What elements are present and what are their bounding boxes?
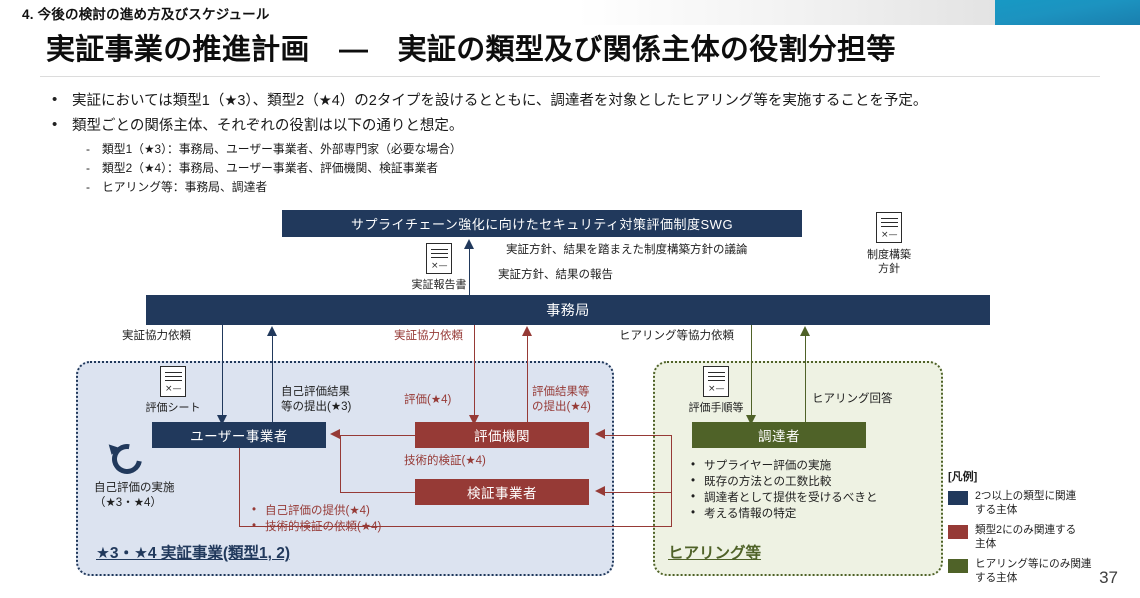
slide-root: 4. 今後の検討の進め方及びスケジュール 実証事業の推進計画 — 実証の類型及び… [0,0,1140,598]
legend-label: 2つ以上の類型に関連 する主体 [975,490,1076,517]
flow-label-self-eval-submit-2: 等の提出(★3) [281,400,351,415]
connector-jimukyoku-to-hyoka [474,325,475,422]
arrowhead-left-to-user [330,429,340,439]
node-procurer: 調達者 [692,422,866,448]
title-divider [40,76,1100,77]
procurer-task-list: サプライヤー評価の実施 既存の方法との工数比較 調達者として提供を受けるべきと … [690,458,940,522]
bullet-level2: 類型2（★4）：事務局、ユーザー事業者、評価機関、検証事業者 [44,159,1124,178]
connector-right-riser [671,435,672,526]
connector-kensho-riser [340,435,341,492]
flow-label-hyoka-result-1: 評価結果等 [532,385,590,400]
flow-label-swg-report: 実証方針、結果の報告 [498,268,613,283]
arrowhead-left-into-hyoka [595,429,605,439]
arrowhead-up-to-jimukyoku [267,326,277,336]
connector-kensho-to-user [340,492,415,493]
header-accent-block [995,0,1140,25]
bullet-level1: 類型ごとの関係主体、それぞれの役割は以下の通りと想定。 [44,115,1124,137]
connector-user-to-jimukyoku [272,335,273,422]
node-evaluation-body: 評価機関 [415,422,589,448]
arrowhead-up-to-swg [464,239,474,249]
legend-title: [凡例] [948,468,1128,484]
connector-user-down [239,448,240,526]
flow-label-hearing-kyoryoku: ヒアリング等協力依頼 [619,329,734,344]
section-kicker: 4. 今後の検討の進め方及びスケジュール [22,3,270,23]
flow-label-jissho-kyoryoku-mid: 実証協力依頼 [394,329,463,344]
panel-label-demonstration: ★3・★4 実証事業(類型1, 2) [96,541,290,563]
document-caption-seido-line2: 方針 [849,262,929,276]
legend-item: 類型2にのみ関連する 主体 [948,524,1128,551]
connector-chotatsu-to-jimukyoku [805,335,806,422]
legend-label: ヒアリング等にのみ関連 する主体 [975,558,1092,585]
flow-label-hearing-answer: ヒアリング回答 [812,392,893,407]
document-icon: ×— [426,243,452,274]
document-caption-hyoka-sheet: 評価シート [135,401,211,415]
node-swg: サプライチェーン強化に向けたセキュリティ対策評価制度SWG [282,210,802,237]
red-flow-list: 自己評価の提供(★4) 技術的検証の依頼(★4) [252,503,512,535]
connector-hyoka-to-jimukyoku [527,335,528,422]
arrowhead-up-to-jimukyoku-green [800,326,810,336]
flow-label-self-eval-do-2: （★3・★4） [94,496,162,511]
node-user-business: ユーザー事業者 [152,422,326,448]
flow-label-hyoka-result-2: の提出(★4) [532,400,591,415]
connector-hyoka-to-user [340,435,415,436]
node-jimukyoku: 事務局 [146,295,990,325]
role-sharing-diagram: サプライチェーン強化に向けたセキュリティ対策評価制度SWG 実証方針、結果を踏ま… [0,196,1140,598]
list-item: 既存の方法との工数比較 [690,474,940,490]
list-item: 技術的検証の依頼(★4) [252,519,512,535]
legend-label: 類型2にのみ関連する 主体 [975,524,1076,551]
bullet-level1: 実証においては類型1（★3）、類型2（★4）の2タイプを設けるとともに、調達者を… [44,90,1124,112]
bullet-level2: ヒアリング等：事務局、調達者 [44,178,1124,197]
list-item: サプライヤー評価の実施 [690,458,940,474]
panel-label-hearing: ヒアリング等 [668,541,761,563]
flow-label-hyoka-star4: 評価(★4) [404,393,451,408]
document-caption-hyoka-tejun: 評価手順等 [676,401,756,415]
legend-item: 2つ以上の類型に関連 する主体 [948,490,1128,517]
page-title: 実証事業の推進計画 — 実証の類型及び関係主体の役割分担等 [46,26,896,68]
legend-swatch-red [948,525,968,539]
flow-label-gijutsu-kensho: 技術的検証(★4) [404,454,486,469]
legend-swatch-navy [948,491,968,505]
document-icon: ×— [876,212,902,243]
bullet-block: 実証においては類型1（★3）、類型2（★4）の2タイプを設けるとともに、調達者を… [44,90,1124,197]
document-icon: ×— [160,366,186,397]
list-item: 調達者として提供を受けるべきと [690,490,940,506]
connector-jimukyoku-to-user [222,325,223,422]
flow-label-jissho-kyoryoku-left: 実証協力依頼 [122,329,191,344]
node-verification-body: 検証事業者 [415,479,589,505]
connector-to-kensho-right [605,492,671,493]
bullet-level2: 類型1（★3）：事務局、ユーザー事業者、外部専門家（必要な場合） [44,140,1124,159]
flow-label-self-eval-do-1: 自己評価の実施 [94,481,175,496]
connector-to-hyoka-right [605,435,671,436]
document-caption-seido-line1: 制度構築 [849,248,929,262]
arrowhead-left-into-kensho [595,486,605,496]
page-number: 37 [1099,568,1118,588]
document-icon: ×— [703,366,729,397]
list-item: 自己評価の提供(★4) [252,503,512,519]
arrowhead-up-to-jimukyoku-red [522,326,532,336]
document-caption-jissho-report: 実証報告書 [396,278,482,292]
flow-label-swg-discussion: 実証方針、結果を踏まえた制度構築方針の議論 [506,243,748,258]
list-item-continuation: 考える情報の特定 [690,506,940,522]
flow-label-self-eval-submit-1: 自己評価結果 [281,385,350,400]
legend-swatch-green [948,559,968,573]
